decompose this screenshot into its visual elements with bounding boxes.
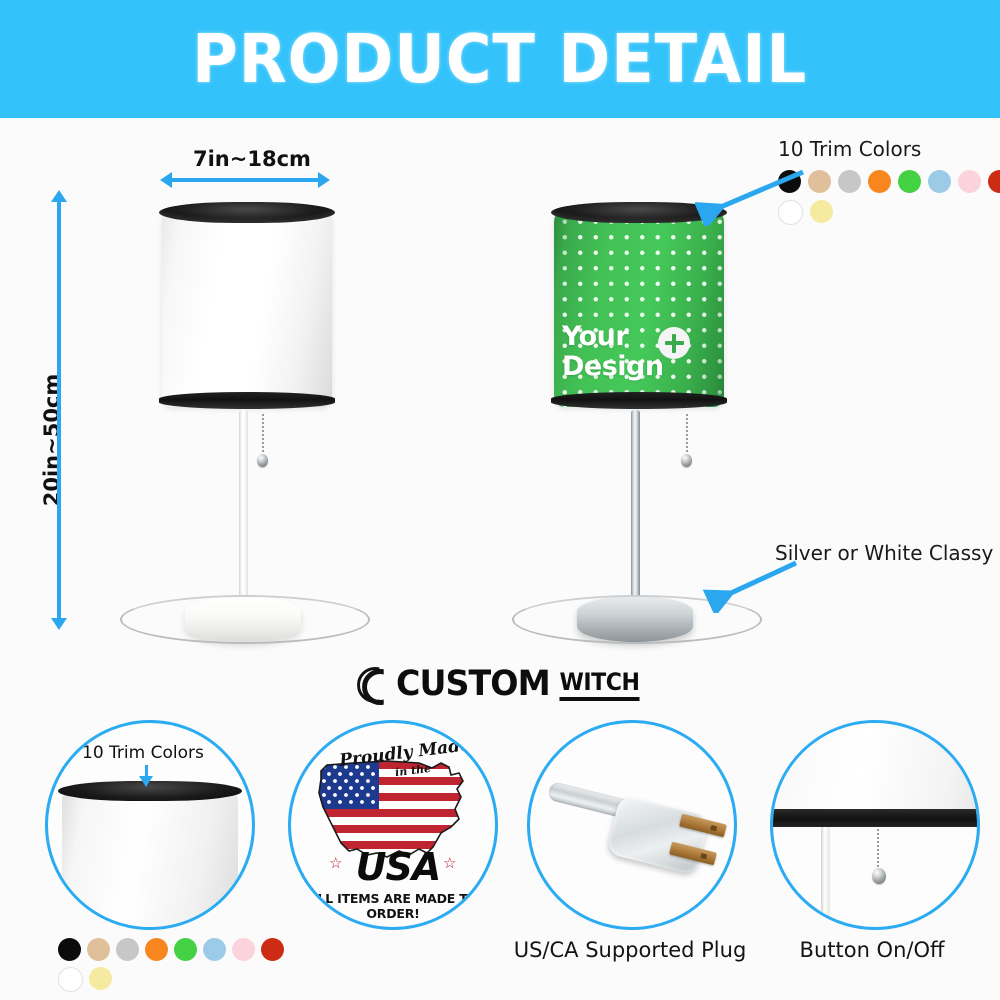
pull-chain-2[interactable]	[686, 414, 688, 458]
pull-chain-preview[interactable]	[877, 829, 879, 871]
pull-chain-ball[interactable]	[257, 454, 268, 467]
made-in-usa-circle: Proudly Made in the ☆ USA ☆ ALL ITEMS AR…	[288, 720, 498, 930]
trim-colors-shade-preview	[62, 789, 238, 930]
brand-logo: CUSTOM WITCH	[0, 660, 1000, 708]
shade-bottom-preview	[770, 720, 980, 817]
trim-swatch-dark-red[interactable]	[261, 938, 284, 961]
feature-made-in-usa: Proudly Made in the ☆ USA ☆ ALL ITEMS AR…	[288, 720, 498, 990]
trim-swatch-dark-red[interactable]	[988, 170, 1000, 193]
lamp-pole-white	[239, 410, 248, 614]
shade-design-text: Your Design	[562, 322, 716, 382]
trim-colors-callout-label: 10 Trim Colors	[778, 137, 921, 161]
pull-chain[interactable]	[262, 414, 264, 458]
plus-icon[interactable]	[658, 327, 690, 359]
usa-star-left: ☆	[329, 854, 342, 872]
trim-swatch-pink[interactable]	[232, 938, 255, 961]
trim-swatch-yellow[interactable]	[89, 967, 112, 990]
lamp-pole-silver	[631, 410, 640, 614]
button-on-off-caption: Button On/Off	[762, 938, 982, 962]
lamp-pole-preview	[821, 827, 830, 930]
trim-swatch-black[interactable]	[58, 938, 81, 961]
trim-colors-swatch-row-bottom	[58, 938, 288, 992]
trim-colors-circle: 10 Trim Colors	[45, 720, 255, 930]
shade-trim-top	[159, 202, 335, 223]
trim-swatch-green[interactable]	[174, 938, 197, 961]
trim-colors-pointer-arrow	[695, 166, 815, 226]
design-text-line-2: Design	[562, 352, 716, 382]
shade-surface	[162, 210, 332, 407]
header-banner: PRODUCT DETAIL	[0, 0, 1000, 118]
brand-c-icon	[357, 667, 391, 701]
trim-swatch-orange[interactable]	[145, 938, 168, 961]
page-title: PRODUCT DETAIL	[193, 20, 808, 98]
trim-swatch-light-blue[interactable]	[928, 170, 951, 193]
brand-name-main: CUSTOM	[396, 664, 550, 704]
plug-circle	[527, 720, 737, 930]
lamp-shade-custom: Your Design	[554, 202, 724, 414]
trim-swatch-pink[interactable]	[958, 170, 981, 193]
shade-trim-bottom	[159, 392, 335, 409]
lamp-shade-white	[162, 202, 332, 414]
feature-button-on-off: Button On/Off	[770, 720, 980, 990]
usa-star-right: ☆	[443, 854, 456, 872]
power-cord-white	[120, 595, 370, 644]
usa-big-text: USA	[343, 845, 453, 889]
pull-chain-ball-2[interactable]	[681, 454, 692, 467]
feature-trim-colors: 10 Trim Colors	[45, 720, 255, 990]
trim-swatch-orange[interactable]	[868, 170, 891, 193]
trim-colors-inner-label: 10 Trim Colors	[82, 743, 204, 763]
trim-swatch-green[interactable]	[898, 170, 921, 193]
trim-swatch-gray[interactable]	[838, 170, 861, 193]
brand-name-sub: WITCH	[559, 668, 639, 701]
base-finish-pointer-arrow	[700, 553, 810, 613]
trim-swatch-gray[interactable]	[116, 938, 139, 961]
design-text-line-1: Your	[562, 322, 716, 352]
product-detail-page: PRODUCT DETAIL 7in~18cm 20in~50cm	[0, 0, 1000, 1000]
shade-trim-preview	[770, 809, 980, 827]
pull-chain-ball-preview[interactable]	[872, 868, 886, 884]
button-on-off-circle	[770, 720, 980, 930]
trim-colors-inner-arrow-head	[139, 776, 153, 787]
main-product-stage: 7in~18cm 20in~50cm	[0, 118, 1000, 700]
trim-swatch-light-blue[interactable]	[203, 938, 226, 961]
plug-caption: US/CA Supported Plug	[500, 938, 760, 962]
lamp-white	[0, 118, 420, 658]
plug-housing	[606, 795, 710, 875]
trim-swatch-white[interactable]	[58, 967, 83, 992]
feature-plug: US/CA Supported Plug	[527, 720, 742, 990]
trim-swatch-tan[interactable]	[87, 938, 110, 961]
usa-subtitle: ALL ITEMS ARE MADE TO ORDER!	[291, 891, 495, 921]
shade-trim-bottom-green	[551, 392, 727, 409]
usa-badge: Proudly Made in the ☆ USA ☆ ALL ITEMS AR…	[291, 723, 495, 927]
